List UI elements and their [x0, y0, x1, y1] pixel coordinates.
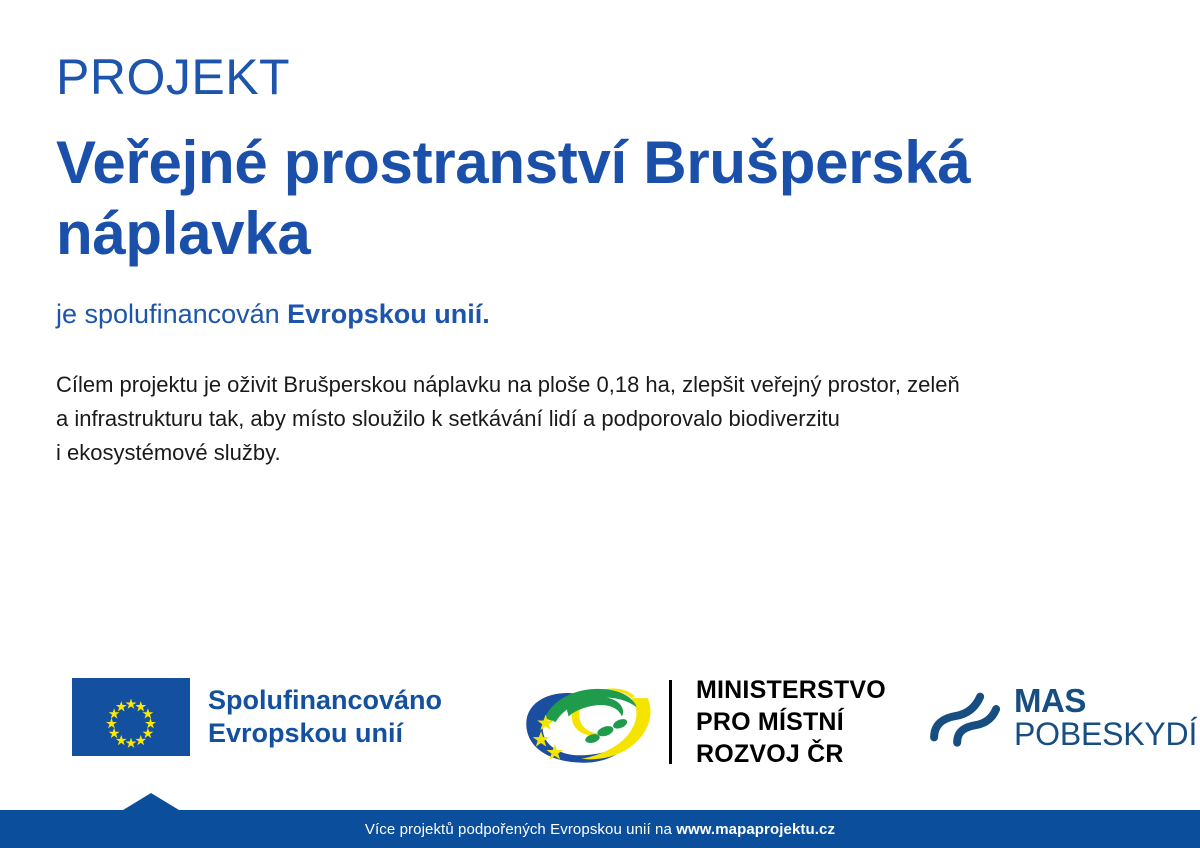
- ministry-line3: ROZVOJ ČR: [696, 740, 844, 768]
- mas-waves-icon: [930, 686, 1002, 748]
- ministry-divider: [669, 680, 672, 764]
- ministry-logo: MINISTERSTVO PRO MÍSTNÍ ROZVOJ ČR: [513, 674, 886, 770]
- ministry-line1: MINISTERSTVO: [696, 676, 886, 704]
- footer-url[interactable]: www.mapaprojektu.cz: [676, 821, 835, 838]
- description-line: i ekosystémové služby.: [56, 436, 1141, 470]
- mas-pobeskydi-logo: MAS POBESKYDÍ: [930, 684, 1197, 750]
- poster-kicker: PROJEKT: [56, 52, 1146, 102]
- eu-flag-icon: [72, 678, 190, 756]
- project-description: Cílem projektu je oživit Brušperskou náp…: [56, 368, 1141, 470]
- ministry-logo-text: MINISTERSTVO PRO MÍSTNÍ ROZVOJ ČR: [696, 674, 886, 770]
- footer-text-prefix: Více projektů podpořených Evropskou unií…: [365, 821, 676, 838]
- footer-notch-arrow: [123, 793, 179, 810]
- mas-line1: MAS: [1014, 684, 1197, 717]
- footer-text: Více projektů podpořených Evropskou unií…: [365, 821, 835, 838]
- page-title: Veřejné prostranství Brušperská náplavka: [56, 128, 1076, 270]
- poster-content: PROJEKT Veřejné prostranství Brušperská …: [56, 52, 1146, 470]
- description-line: Cílem projektu je oživit Brušperskou náp…: [56, 368, 1141, 402]
- mmr-emblem-icon: [513, 676, 661, 768]
- eu-logo-text: Spolufinancováno Evropskou unií: [208, 684, 442, 750]
- logo-strip: Spolufinancováno Evropskou unií: [0, 660, 1200, 780]
- eu-logo-line2: Evropskou unií: [208, 718, 403, 748]
- description-line: a infrastrukturu tak, aby místo sloužilo…: [56, 402, 1141, 436]
- ministry-line2: PRO MÍSTNÍ: [696, 708, 844, 736]
- project-poster: PROJEKT Veřejné prostranství Brušperská …: [0, 0, 1200, 848]
- funding-subtitle: je spolufinancován Evropskou unií.: [56, 298, 1146, 330]
- funding-subtitle-prefix: je spolufinancován: [56, 299, 287, 329]
- eu-cofunding-logo: Spolufinancováno Evropskou unií: [72, 678, 442, 756]
- footer-bar: Více projektů podpořených Evropskou unií…: [0, 810, 1200, 848]
- mas-logo-text: MAS POBESKYDÍ: [1014, 684, 1197, 750]
- eu-logo-line1: Spolufinancováno: [208, 685, 442, 715]
- mas-line2: POBESKYDÍ: [1014, 718, 1197, 750]
- funding-subtitle-strong: Evropskou unií.: [287, 299, 490, 329]
